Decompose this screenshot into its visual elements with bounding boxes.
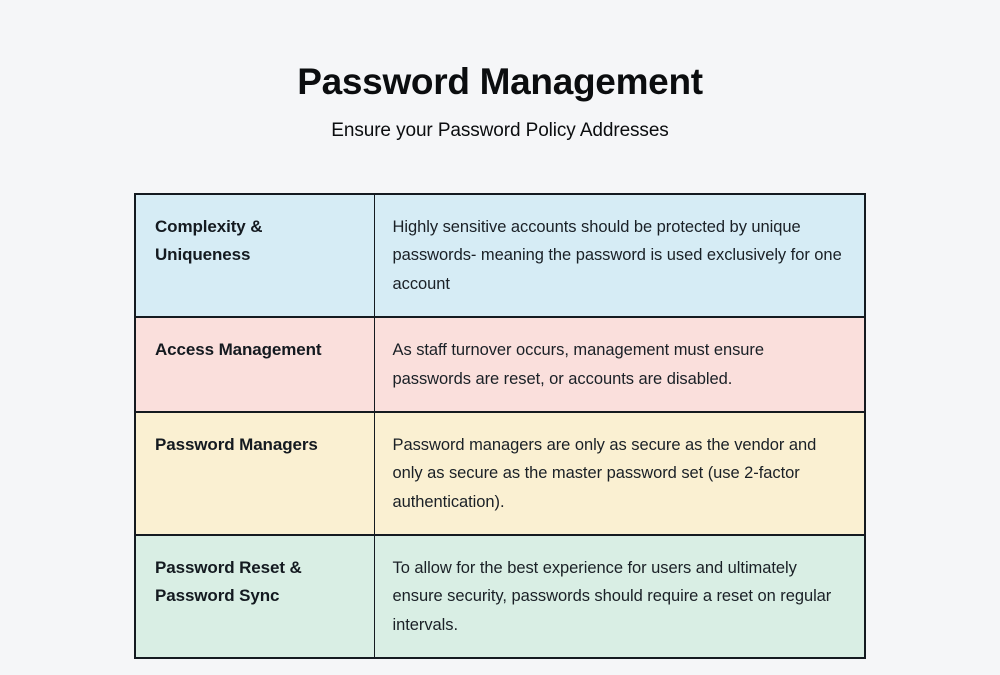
policy-description-text: To allow for the best experience for use… — [374, 535, 865, 658]
policy-category-label: Password Managers — [135, 412, 374, 535]
policy-table-container: Complexity & Uniqueness Highly sensitive… — [134, 193, 866, 659]
policy-description-text: Password managers are only as secure as … — [374, 412, 865, 535]
table-row: Password Managers Password managers are … — [135, 412, 865, 535]
policy-category-label: Access Management — [135, 317, 374, 412]
page-title: Password Management — [0, 62, 1000, 103]
table-row: Password Reset & Password Sync To allow … — [135, 535, 865, 658]
policy-category-label: Complexity & Uniqueness — [135, 194, 374, 317]
policy-description-text: As staff turnover occurs, management mus… — [374, 317, 865, 412]
table-row: Access Management As staff turnover occu… — [135, 317, 865, 412]
password-policy-table: Complexity & Uniqueness Highly sensitive… — [134, 193, 866, 659]
policy-category-label: Password Reset & Password Sync — [135, 535, 374, 658]
document-page: Password Management Ensure your Password… — [0, 0, 1000, 675]
document-header: Password Management Ensure your Password… — [0, 0, 1000, 142]
table-row: Complexity & Uniqueness Highly sensitive… — [135, 194, 865, 317]
policy-description-text: Highly sensitive accounts should be prot… — [374, 194, 865, 317]
page-subtitle: Ensure your Password Policy Addresses — [0, 103, 1000, 142]
policy-table-body: Complexity & Uniqueness Highly sensitive… — [135, 194, 865, 658]
